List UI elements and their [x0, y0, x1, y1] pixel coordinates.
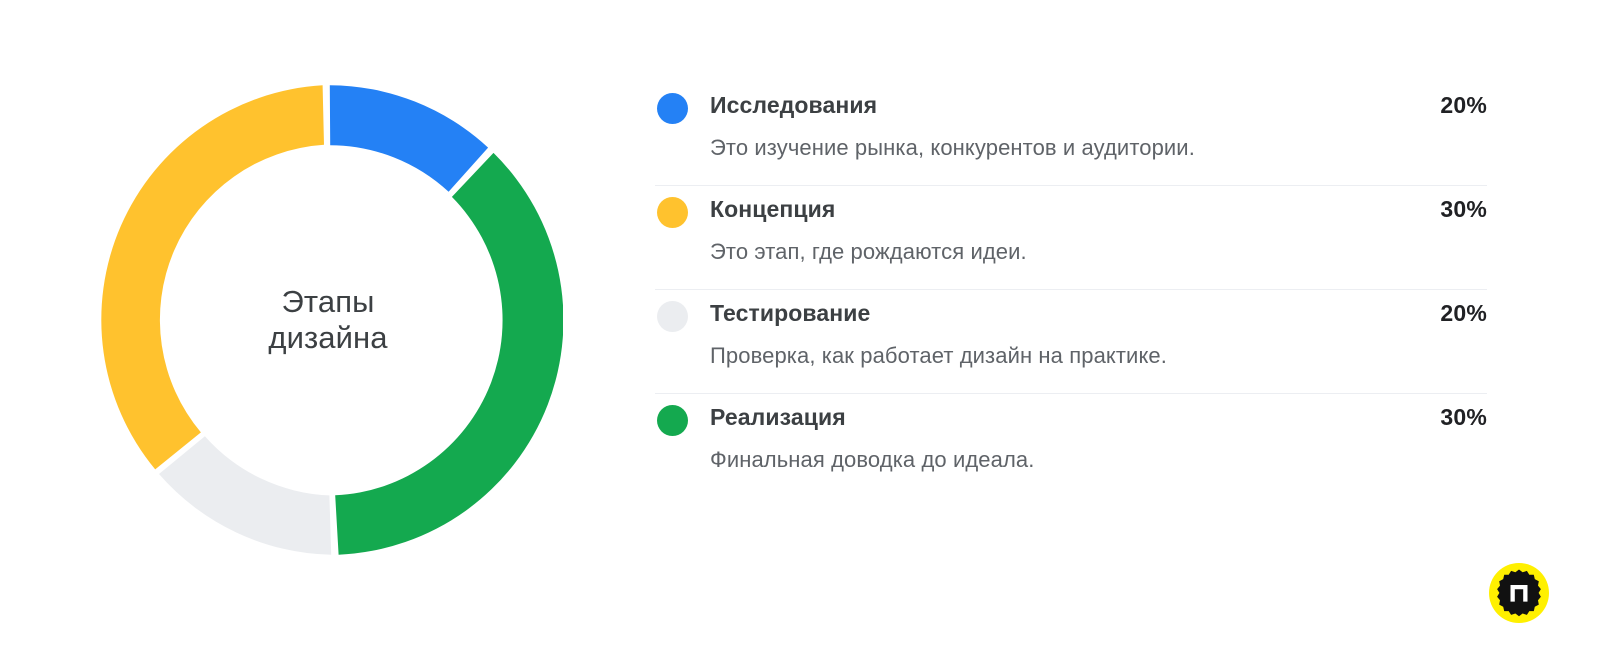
legend-color-dot-icon [657, 301, 688, 332]
legend-item-kontseptsiya[interactable]: Концепция 30% Это этап, где рождаются ид… [655, 186, 1487, 290]
donut-slice-realizatsiya[interactable] [335, 153, 563, 555]
legend-item-percent: 20% [1440, 300, 1487, 327]
legend-item-percent: 20% [1440, 92, 1487, 119]
donut-slice-issledovaniya[interactable] [330, 85, 488, 192]
brand-badge-svg [1489, 563, 1549, 623]
donut-slice-kontseptsiya[interactable] [101, 85, 324, 469]
legend-item-description: Проверка, как работает дизайн на практик… [710, 343, 1167, 369]
donut-chart: Этапы дизайна [93, 85, 563, 555]
legend-item-title: Концепция [710, 196, 835, 223]
legend-item-title: Исследования [710, 92, 877, 119]
legend-item-description: Финальная доводка до идеала. [710, 447, 1034, 473]
legend-item-description: Это этап, где рождаются идеи. [710, 239, 1027, 265]
donut-slice-testirovanie[interactable] [159, 436, 331, 555]
legend-color-dot-icon [657, 405, 688, 436]
legend-list: Исследования 20% Это изучение рынка, кон… [655, 82, 1487, 498]
legend-item-percent: 30% [1440, 404, 1487, 431]
legend-color-dot-icon [657, 197, 688, 228]
brand-badge-icon[interactable] [1489, 563, 1549, 623]
legend-item-issledovaniya[interactable]: Исследования 20% Это изучение рынка, кон… [655, 82, 1487, 186]
infographic-canvas: Этапы дизайна Исследования 20% Это изуче… [0, 0, 1600, 654]
legend-item-testirovanie[interactable]: Тестирование 20% Проверка, как работает … [655, 290, 1487, 394]
legend-color-dot-icon [657, 93, 688, 124]
legend-item-title: Реализация [710, 404, 846, 431]
donut-chart-svg [93, 85, 563, 555]
donut-slices [101, 85, 563, 555]
legend-item-title: Тестирование [710, 300, 870, 327]
legend-item-description: Это изучение рынка, конкурентов и аудито… [710, 135, 1195, 161]
legend-item-realizatsiya[interactable]: Реализация 30% Финальная доводка до идеа… [655, 394, 1487, 498]
legend-item-percent: 30% [1440, 196, 1487, 223]
